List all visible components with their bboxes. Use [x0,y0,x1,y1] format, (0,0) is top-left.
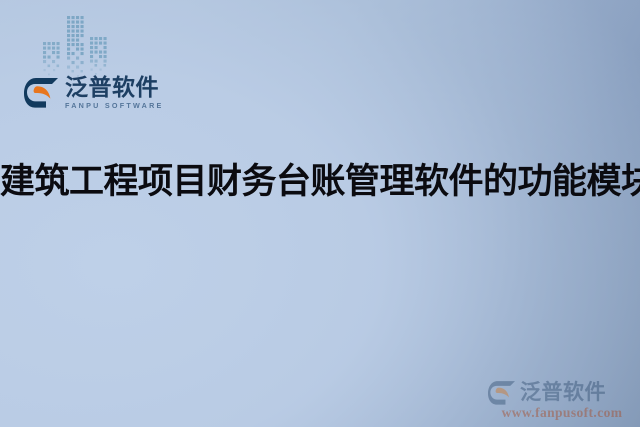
brand-name-en: FANPU SOFTWARE [65,102,164,109]
brand-logo: 泛普软件 FANPU SOFTWARE [24,76,164,109]
watermark-logo-row: 泛普软件 [488,381,636,405]
brand-name-cn: 泛普软件 [65,76,164,100]
watermark-url: www.fanpusoft.com [488,406,636,420]
fanpu-logo-mark-icon [24,78,58,108]
pixelated-building-skyline-icon [40,8,114,84]
page-title: 建筑工程项目财务台账管理软件的功能模块图 [0,160,640,204]
slide-canvas: 泛普软件 FANPU SOFTWARE 建筑工程项目财务台账管理软件的功能模块图… [0,0,640,427]
fanpu-logo-mark-icon [488,381,515,405]
brand-wordmark: 泛普软件 FANPU SOFTWARE [65,76,164,109]
watermark-name-cn: 泛普软件 [520,382,606,403]
watermark: 泛普软件 www.fanpusoft.com [488,381,636,420]
